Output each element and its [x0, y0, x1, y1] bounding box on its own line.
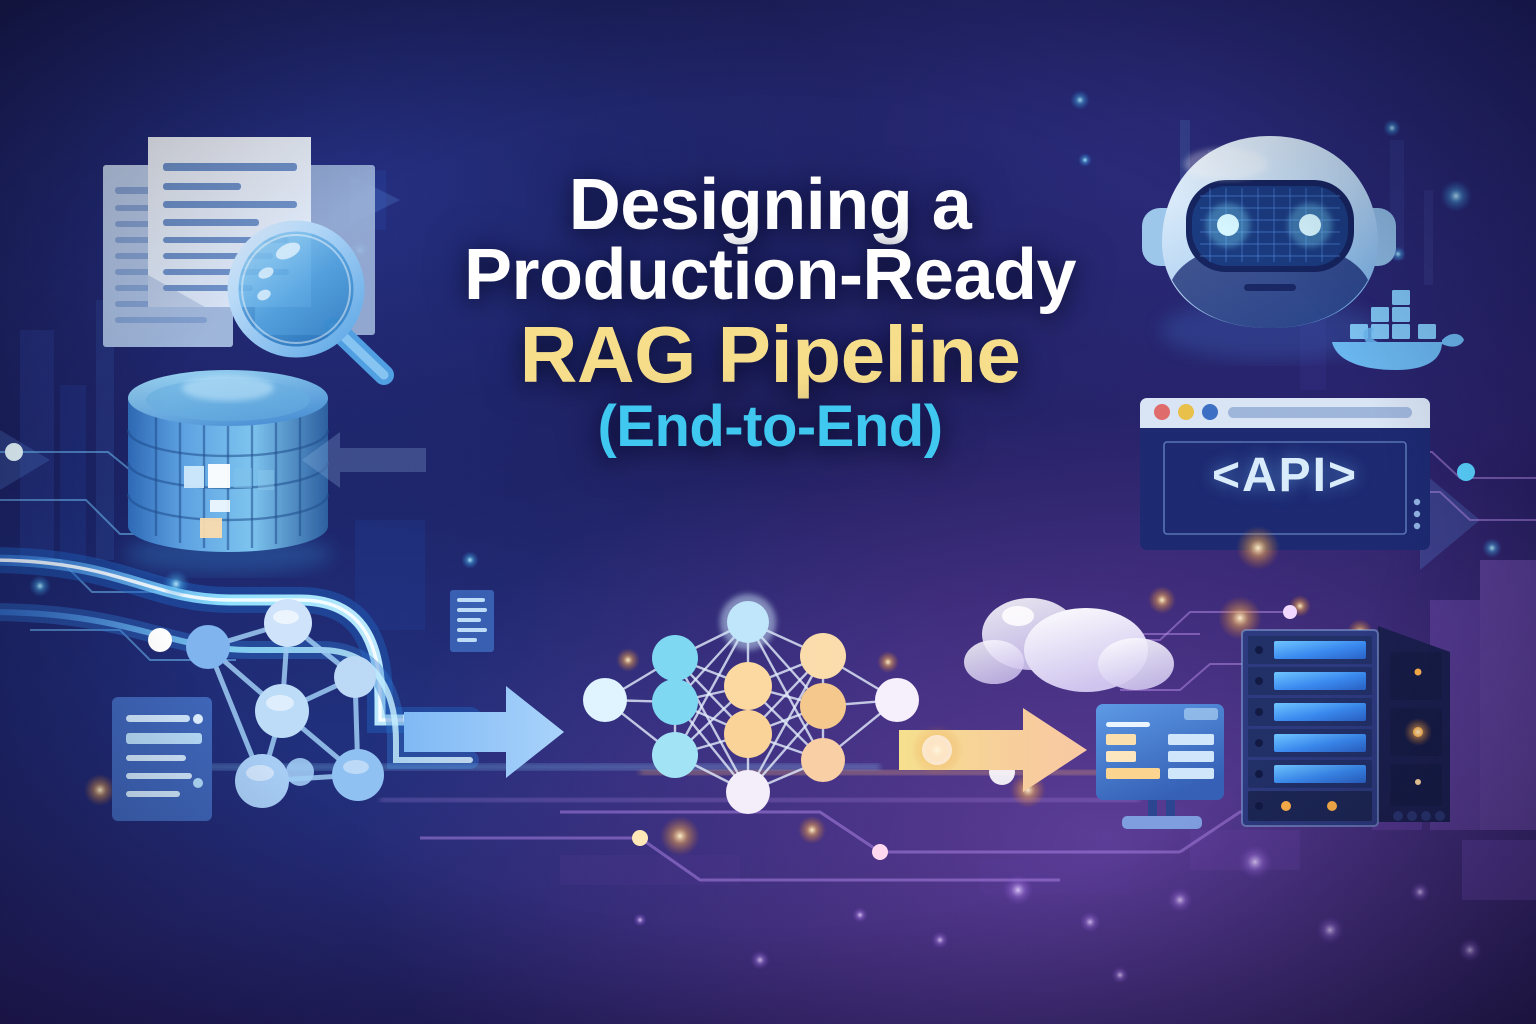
neural-nodes	[583, 594, 919, 814]
robot-eye-right	[1288, 203, 1332, 247]
hero-banner: <API>	[0, 0, 1536, 1024]
title-line-3: RAG Pipeline	[430, 314, 1110, 396]
title-line-1: Designing a	[430, 168, 1110, 242]
window-scroll-dots	[1414, 499, 1420, 529]
server-rack-icon	[1228, 622, 1458, 837]
neural-network-icon	[585, 600, 925, 830]
robot-mouth	[1244, 284, 1296, 291]
cloud-icon	[968, 592, 1178, 702]
dashboard-rows-right	[1168, 734, 1214, 779]
server-side-panels	[1390, 652, 1445, 821]
arrow-right-amber-icon	[895, 700, 1095, 800]
docker-containers	[1350, 290, 1436, 339]
arrow-left-faint-icon	[300, 430, 430, 490]
document-card-icon	[448, 588, 498, 656]
docker-whale-icon	[1326, 280, 1466, 372]
page-title: Designing a Production-Ready RAG Pipelin…	[430, 168, 1110, 456]
window-traffic-lights[interactable]	[1154, 404, 1218, 420]
api-browser-window-icon[interactable]: <API>	[1140, 398, 1430, 550]
url-bar[interactable]	[1228, 407, 1412, 418]
server-bay-status	[1248, 791, 1372, 821]
document-card-icon	[110, 695, 220, 825]
title-line-2: Production-Ready	[430, 238, 1110, 312]
dashboard-monitor-icon[interactable]	[1092, 700, 1232, 835]
arrow-right-blue-icon	[400, 680, 570, 790]
robot-eye-left	[1206, 203, 1250, 247]
api-code-text: <API>	[1140, 448, 1430, 503]
title-line-4: (End-to-End)	[430, 397, 1110, 457]
